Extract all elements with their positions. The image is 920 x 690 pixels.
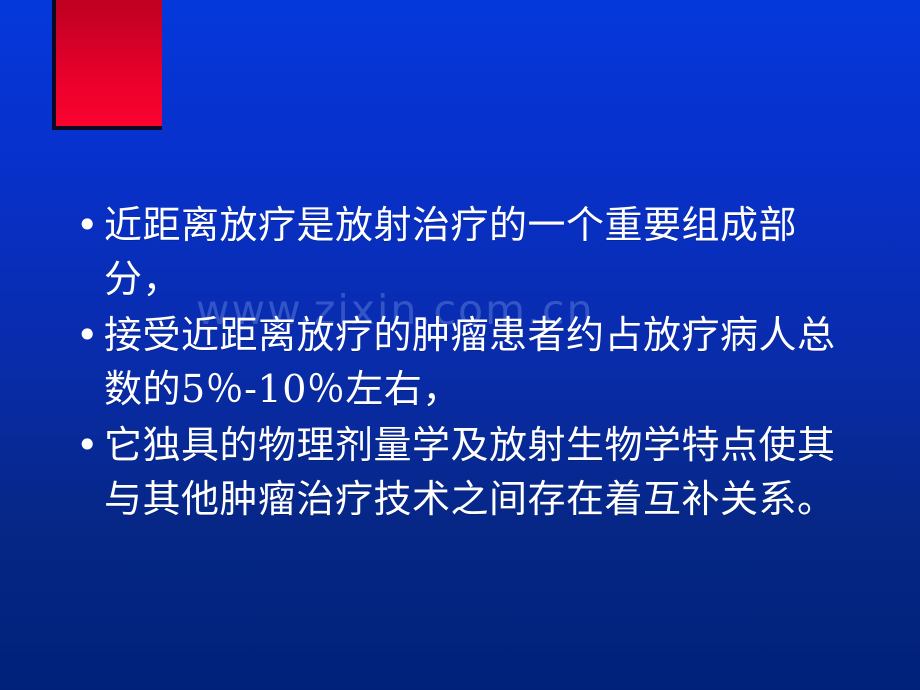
bullet-text: 近距离放疗是放射治疗的一个重要组成部分，	[104, 198, 866, 306]
bullet-point-icon: •	[66, 418, 104, 472]
bullet-text: 接受近距离放疗的肿瘤患者约占放疗病人总数的5％-10％左右，	[104, 308, 866, 416]
bullet-text: 它独具的物理剂量学及放射生物学特点使其与其他肿瘤治疗技术之间存在着互补关系。	[104, 418, 866, 526]
list-item: • 接受近距离放疗的肿瘤患者约占放疗病人总数的5％-10％左右，	[66, 308, 866, 416]
red-accent-block	[52, 0, 162, 130]
list-item: • 它独具的物理剂量学及放射生物学特点使其与其他肿瘤治疗技术之间存在着互补关系。	[66, 418, 866, 526]
bullet-point-icon: •	[66, 308, 104, 362]
bullet-list: • 近距离放疗是放射治疗的一个重要组成部分， • 接受近距离放疗的肿瘤患者约占放…	[66, 198, 866, 528]
bullet-point-icon: •	[66, 198, 104, 252]
presentation-slide: www.zixin.com.cn • 近距离放疗是放射治疗的一个重要组成部分， …	[0, 0, 920, 690]
list-item: • 近距离放疗是放射治疗的一个重要组成部分，	[66, 198, 866, 306]
